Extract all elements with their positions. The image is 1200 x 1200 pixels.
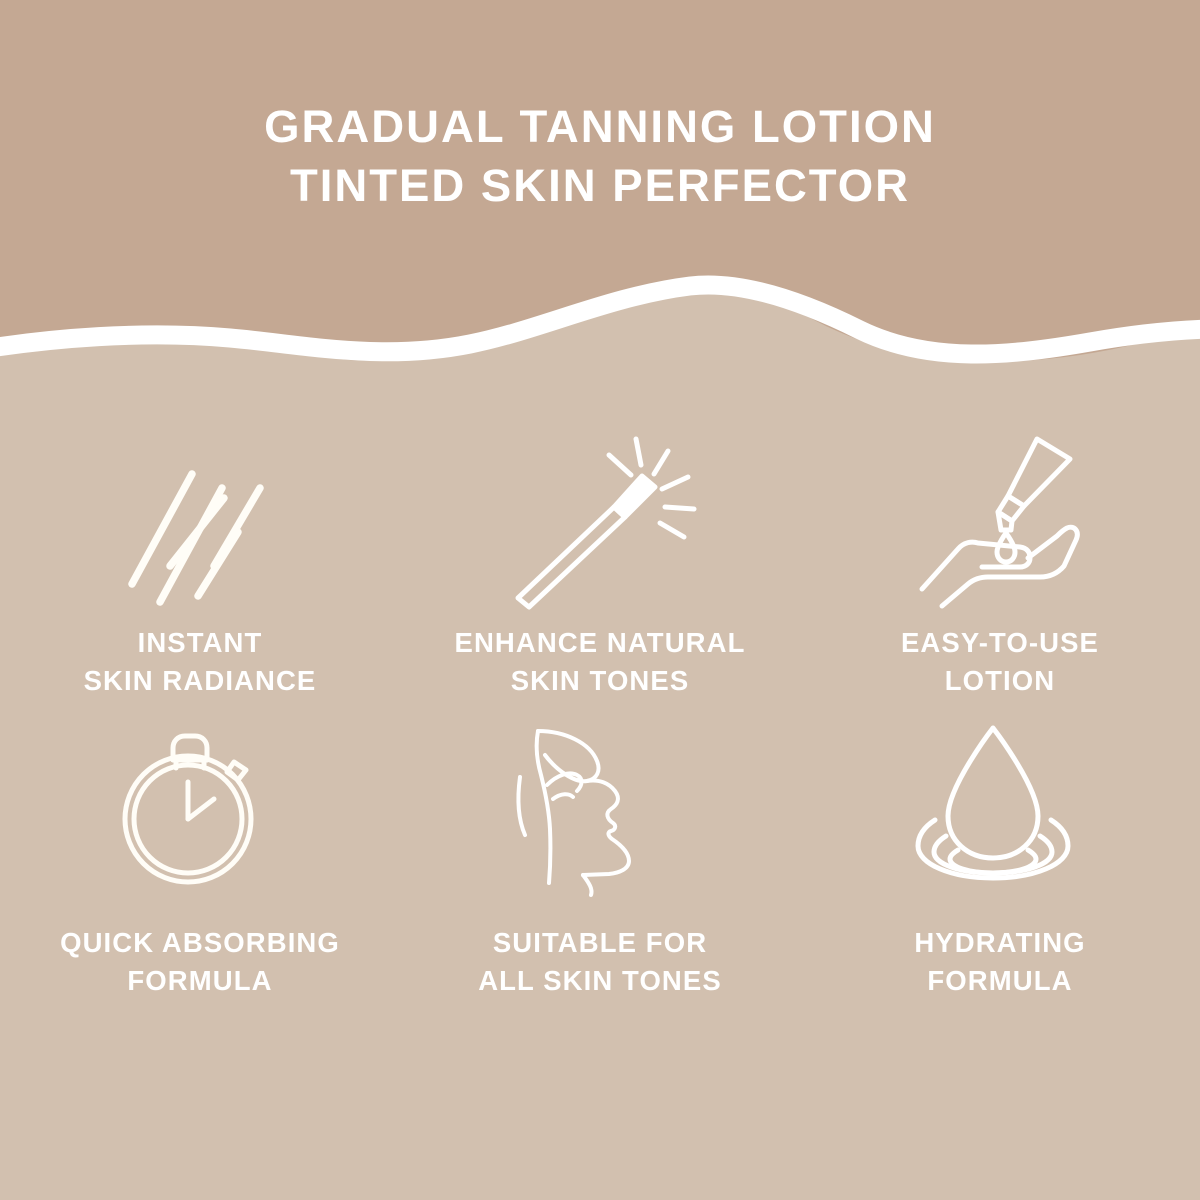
feature-quick-absorbing-formula: QUICK ABSORBING FORMULA bbox=[0, 700, 400, 1000]
lotion-tube-hand-icon bbox=[900, 428, 1100, 614]
feature-label: INSTANT SKIN RADIANCE bbox=[84, 624, 317, 700]
feature-label: EASY-TO-USE LOTION bbox=[901, 624, 1099, 700]
feature-easy-to-use-lotion: EASY-TO-USE LOTION bbox=[800, 410, 1200, 700]
feature-label: QUICK ABSORBING FORMULA bbox=[60, 924, 340, 1000]
feature-label: HYDRATING FORMULA bbox=[914, 924, 1085, 1000]
feature-label: ENHANCE NATURAL SKIN TONES bbox=[455, 624, 746, 700]
feature-enhance-natural-skin-tones: ENHANCE NATURAL SKIN TONES bbox=[400, 410, 800, 700]
page-title: GRADUAL TANNING LOTION TINTED SKIN PERFE… bbox=[0, 97, 1200, 215]
feature-suitable-all-skin-tones: SUITABLE FOR ALL SKIN TONES bbox=[400, 700, 800, 1000]
radiance-lines-icon bbox=[100, 428, 300, 614]
product-feature-panel: GRADUAL TANNING LOTION TINTED SKIN PERFE… bbox=[0, 0, 1200, 1200]
feature-grid: INSTANT SKIN RADIANCE bbox=[0, 410, 1200, 1000]
stopwatch-icon bbox=[100, 708, 300, 898]
feature-hydrating-formula: HYDRATING FORMULA bbox=[800, 700, 1200, 1000]
face-profile-icon bbox=[500, 708, 700, 898]
magic-wand-icon bbox=[500, 428, 700, 614]
feature-instant-skin-radiance: INSTANT SKIN RADIANCE bbox=[0, 410, 400, 700]
water-drop-ripple-icon bbox=[900, 708, 1100, 898]
feature-label: SUITABLE FOR ALL SKIN TONES bbox=[478, 924, 722, 1000]
